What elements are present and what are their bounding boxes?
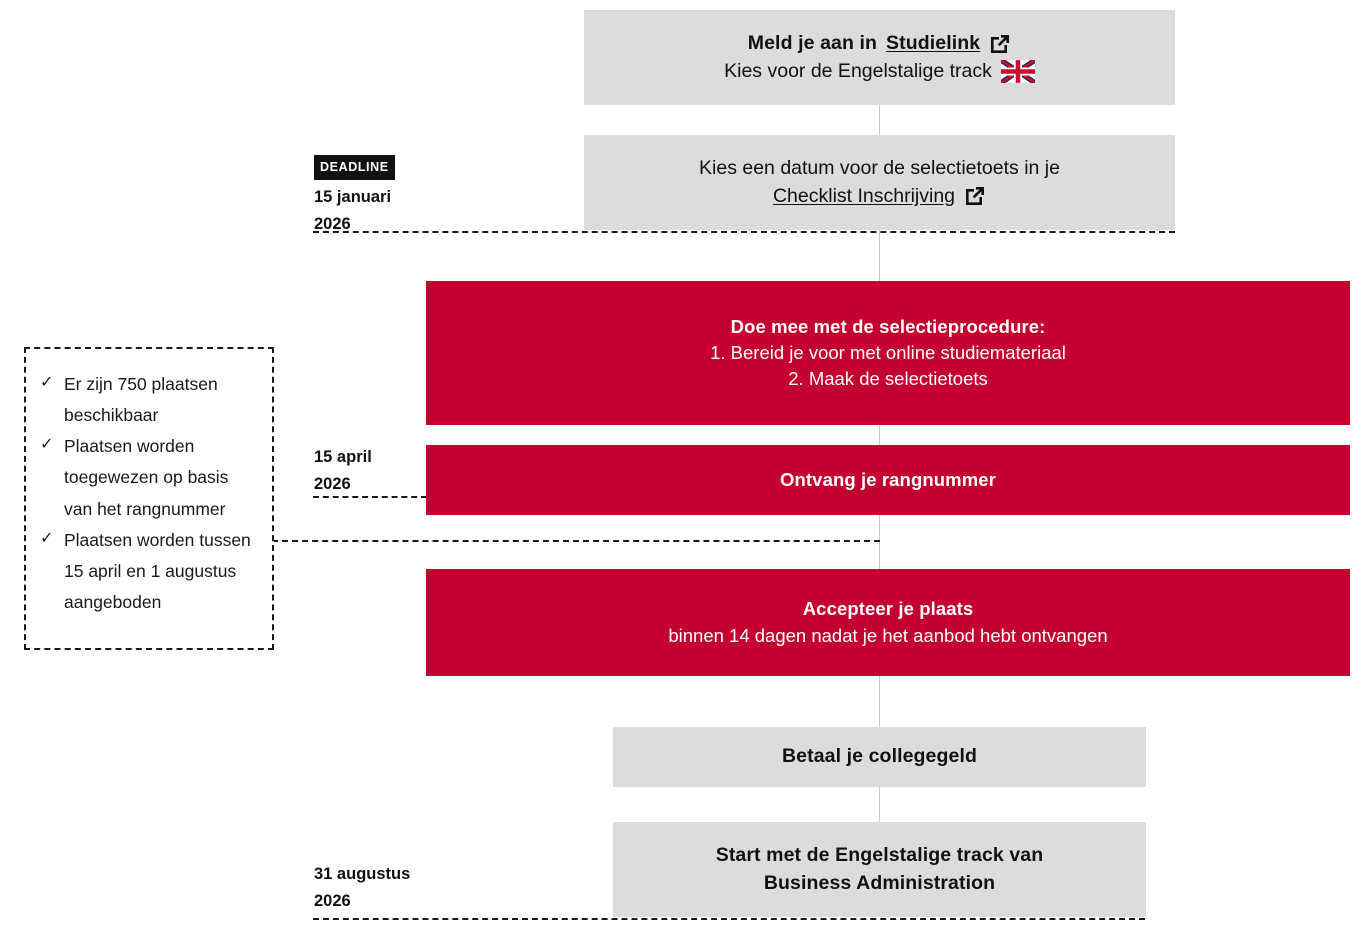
deadline-januari-year: 2026 — [314, 211, 395, 238]
step-datum-line-1: Kies een datum voor de selectietoets in … — [699, 155, 1060, 183]
step-collegegeld-heading: Betaal je collegegeld — [782, 743, 977, 771]
checklist-inschrijving-link[interactable]: Checklist Inschrijving — [773, 183, 955, 211]
step-datum-line-2: Checklist Inschrijving — [773, 183, 986, 211]
step-selectieprocedure-item-1: 1. Bereid je voor met online studiemater… — [710, 340, 1066, 366]
studielink-link[interactable]: Studielink — [886, 30, 980, 58]
step-rangnummer-heading: Ontvang je rangnummer — [780, 467, 996, 493]
dashed-separator-deadline-januari — [313, 231, 1175, 233]
places-info-panel: ✓ Er zijn 750 plaatsen beschikbaar ✓ Pla… — [24, 347, 274, 650]
external-link-icon[interactable] — [989, 33, 1011, 55]
uk-flag-icon — [1001, 60, 1035, 83]
date-31-augustus-year: 2026 — [314, 888, 410, 915]
check-icon: ✓ — [40, 525, 53, 553]
list-item: ✓ Plaatsen worden toegewezen op basis va… — [38, 431, 258, 524]
deadline-badge: DEADLINE — [314, 155, 395, 180]
deadline-januari-day: 15 januari — [314, 184, 395, 211]
connector-line-2 — [879, 229, 880, 281]
dashed-separator-places — [272, 540, 880, 542]
date-15-april-year: 2026 — [314, 471, 372, 498]
step-aanmelden-track-text: Kies voor de Engelstalige track — [724, 58, 992, 86]
list-item: ✓ Plaatsen worden tussen 15 april en 1 a… — [38, 525, 258, 618]
connector-line-1 — [879, 105, 880, 135]
step-start-line-1: Start met de Engelstalige track van — [716, 842, 1044, 870]
date-marker-deadline-januari: DEADLINE 15 januari 2026 — [314, 153, 395, 238]
step-start-line-2: Business Administration — [764, 870, 995, 898]
date-31-augustus-day: 31 augustus — [314, 861, 410, 888]
step-aanmelden-line-2: Kies voor de Engelstalige track — [724, 58, 1035, 86]
places-info-list: ✓ Er zijn 750 plaatsen beschikbaar ✓ Pla… — [38, 369, 258, 618]
flowchart-canvas: Meld je aan in Studielink Kies voor de E… — [0, 0, 1360, 931]
list-item: ✓ Er zijn 750 plaatsen beschikbaar — [38, 369, 258, 431]
date-15-april-day: 15 april — [314, 444, 372, 471]
date-marker-31-augustus: 31 augustus 2026 — [314, 861, 410, 914]
step-box-rangnummer[interactable]: Ontvang je rangnummer — [426, 445, 1350, 515]
step-box-accepteer[interactable]: Accepteer je plaats binnen 14 dagen nada… — [426, 569, 1350, 676]
step-box-selectieprocedure[interactable]: Doe mee met de selectieprocedure: 1. Ber… — [426, 281, 1350, 425]
list-item-label: Er zijn 750 plaatsen beschikbaar — [64, 374, 218, 425]
step-accepteer-heading: Accepteer je plaats — [803, 596, 974, 622]
step-box-collegegeld[interactable]: Betaal je collegegeld — [613, 727, 1146, 787]
connector-line-5 — [879, 676, 880, 727]
step-accepteer-sub: binnen 14 dagen nadat je het aanbod hebt… — [668, 623, 1107, 649]
check-icon: ✓ — [40, 431, 53, 459]
list-item-label: Plaatsen worden tussen 15 april en 1 aug… — [64, 530, 251, 612]
connector-line-6 — [879, 787, 880, 822]
step-aanmelden-line-1: Meld je aan in Studielink — [748, 30, 1011, 58]
step-datum-text: Kies een datum voor de selectietoets in … — [699, 155, 1060, 183]
step-box-start[interactable]: Start met de Engelstalige track van Busi… — [613, 822, 1146, 917]
list-item-label: Plaatsen worden toegewezen op basis van … — [64, 436, 228, 518]
step-selectieprocedure-heading: Doe mee met de selectieprocedure: — [731, 314, 1046, 340]
step-selectieprocedure-item-2: 2. Maak de selectietoets — [788, 366, 988, 392]
connector-line-4 — [879, 515, 880, 569]
dashed-separator-start — [313, 918, 1145, 920]
date-marker-15-april: 15 april 2026 — [314, 444, 372, 497]
connector-line-3 — [879, 425, 880, 445]
step-aanmelden-text: Meld je aan in — [748, 30, 877, 58]
step-box-selectietoets-datum[interactable]: Kies een datum voor de selectietoets in … — [584, 135, 1175, 230]
external-link-icon[interactable] — [964, 185, 986, 207]
step-box-aanmelden[interactable]: Meld je aan in Studielink Kies voor de E… — [584, 10, 1175, 105]
check-icon: ✓ — [40, 369, 53, 397]
